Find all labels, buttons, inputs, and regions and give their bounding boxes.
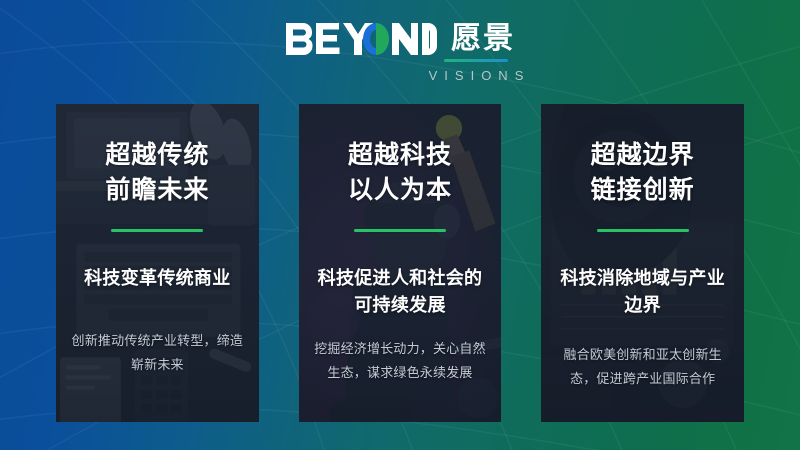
brand-header: 愿景 VISIONS bbox=[0, 22, 800, 83]
card-beyond-tradition[interactable]: 超越传统 前瞻未来 科技变革传统商业 创新推动传统产业转型，缔造崭新未来 bbox=[56, 104, 259, 422]
card-body-text: 融合欧美创新和亚太创新生态，促进跨产业国际合作 bbox=[557, 344, 729, 392]
beyond-wordmark bbox=[285, 22, 437, 56]
tagline-gradient-bar bbox=[444, 59, 508, 62]
card-divider-rule bbox=[354, 229, 446, 232]
card-title: 超越边界 链接创新 bbox=[591, 138, 695, 207]
card-subtitle: 科技消除地域与产业边界 bbox=[551, 265, 734, 319]
card-body-text: 创新推动传统产业转型，缔造崭新未来 bbox=[71, 330, 243, 378]
logo-row: 愿景 bbox=[285, 22, 515, 56]
beyond-o-letter bbox=[363, 23, 389, 55]
card-beyond-boundaries[interactable]: 超越边界 链接创新 科技消除地域与产业边界 融合欧美创新和亚太创新生态，促进跨产… bbox=[541, 104, 744, 422]
card-beyond-technology[interactable]: 超越科技 以人为本 科技促进人和社会的可持续发展 挖掘经济增长动力，关心自然生态… bbox=[299, 104, 502, 422]
brand-name-cn: 愿景 bbox=[451, 24, 515, 54]
card-subtitle: 科技变革传统商业 bbox=[84, 265, 230, 292]
tagline-text: VISIONS bbox=[422, 68, 531, 83]
card-body-text: 挖掘经济增长动力，关心自然生态，谋求绿色永续发展 bbox=[314, 338, 486, 386]
cards-row: 超越传统 前瞻未来 科技变革传统商业 创新推动传统产业转型，缔造崭新未来 bbox=[56, 104, 744, 422]
card-title: 超越传统 前瞻未来 bbox=[105, 138, 209, 207]
card-divider-rule bbox=[111, 229, 203, 232]
card-title: 超越科技 以人为本 bbox=[348, 138, 452, 207]
card-divider-rule bbox=[597, 229, 689, 232]
tagline-group: VISIONS bbox=[422, 59, 531, 83]
card-subtitle: 科技促进人和社会的可持续发展 bbox=[309, 265, 492, 319]
